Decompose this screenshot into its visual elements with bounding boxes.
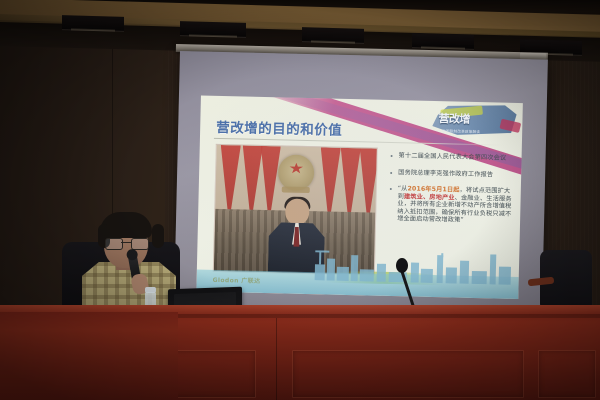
glasses-bridge	[121, 242, 131, 243]
slide-badge-graphic: 营改增 中国税制改革政策解读	[432, 103, 517, 137]
podium-seam	[276, 318, 277, 400]
bullet-item: 国务院总理李克强作政府工作报告	[389, 168, 515, 178]
microphone-head	[396, 258, 408, 273]
bullet-item: 第十二届全国人民代表大会第四次会议	[390, 152, 516, 162]
conference-presentation-photo: 营改增 中国税制改革政策解读 营改增的目的和价值	[0, 0, 600, 400]
ceiling-spotlight	[180, 21, 246, 38]
glasses-icon	[105, 238, 147, 248]
presenter-hair-side	[152, 224, 164, 248]
slide-title: 营改增的目的和价值	[216, 116, 342, 139]
ceiling-spotlight	[302, 27, 364, 44]
presentation-slide: 营改增 中国税制改革政策解读 营改增的目的和价值	[196, 96, 523, 300]
glasses-lens	[105, 238, 123, 250]
ceiling-spotlight	[412, 33, 474, 50]
projection-screen: 营改增 中国税制改革政策解读 营改增的目的和价值	[174, 51, 548, 322]
slide-bullet-list: 第十二届全国人民代表大会第四次会议 国务院总理李克强作政府工作报告 “从2016…	[388, 152, 516, 234]
badge-subtitle: 中国税制改革政策解读	[442, 129, 510, 136]
podium-panel	[538, 350, 596, 398]
podium-left-section	[0, 312, 178, 400]
ceiling-spotlight	[62, 15, 124, 32]
slide-skyline-graphic	[196, 247, 519, 299]
badge-text: 营改增	[438, 113, 512, 127]
podium-panel	[292, 350, 524, 398]
quote-part: “从	[398, 185, 408, 192]
glodon-logo: Glodon 广联达	[213, 275, 261, 285]
bullet-item-quote: “从2016年5月1日起，将试点范围扩大到建筑业、房地产业、金融业、生活服务业，…	[388, 185, 515, 225]
speaker-head	[285, 199, 310, 226]
emblem-base	[282, 186, 310, 193]
glasses-lens	[131, 238, 149, 250]
